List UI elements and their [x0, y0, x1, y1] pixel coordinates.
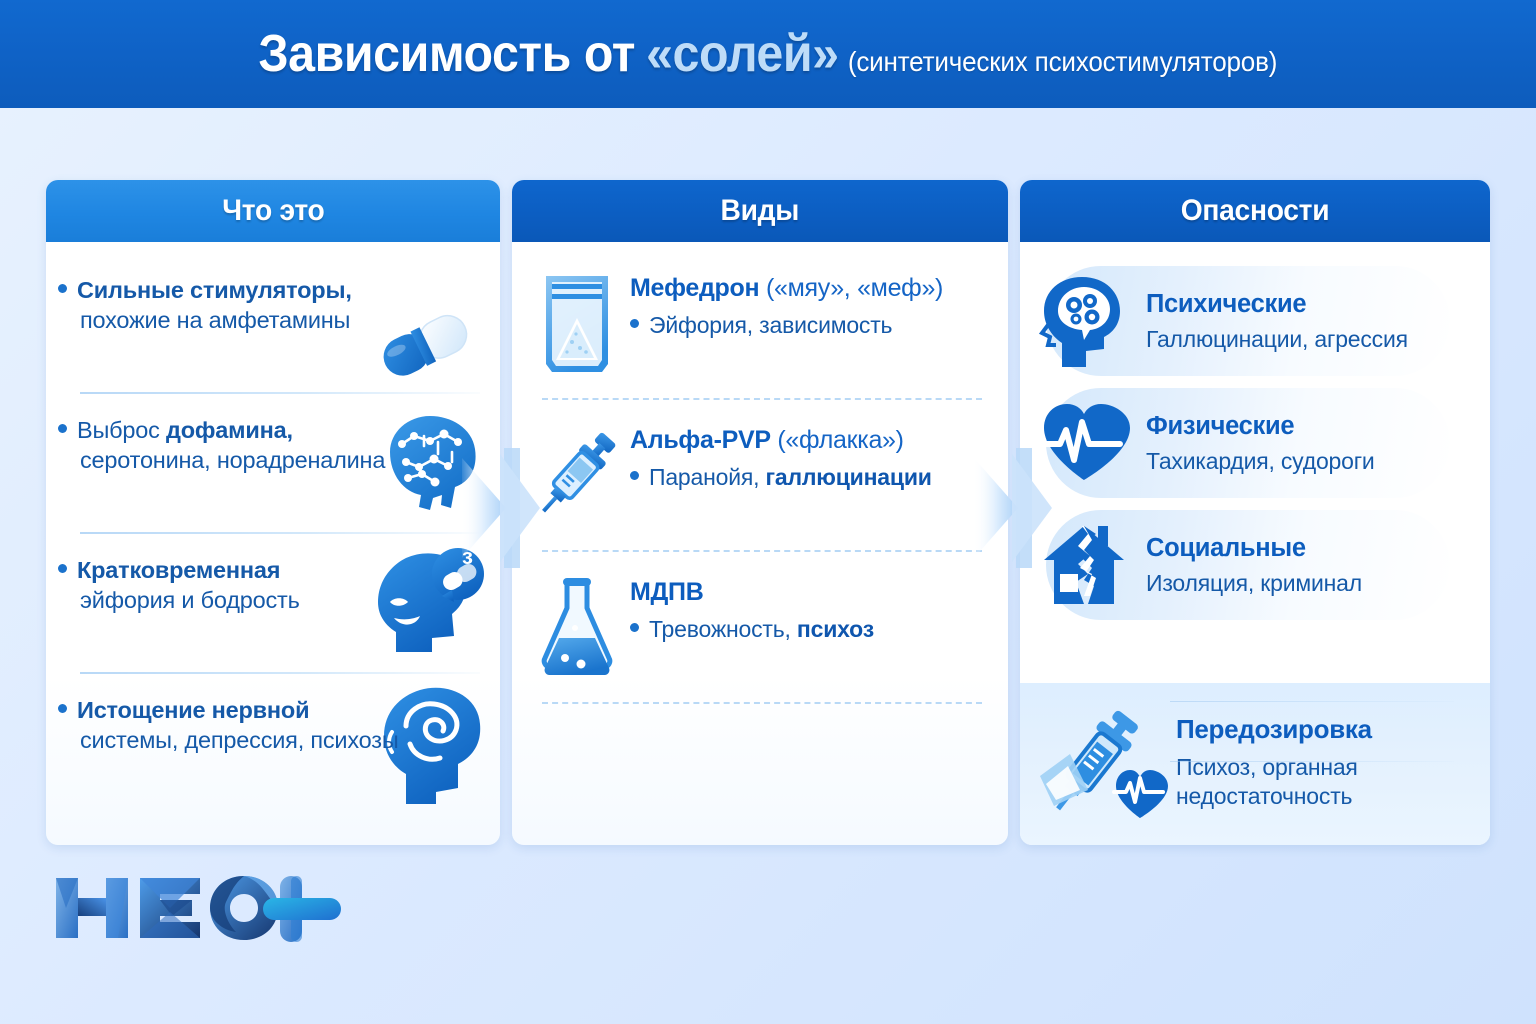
dangers-list: Психические Галлюцинации, агрессия Физич… [1020, 242, 1490, 626]
list-item-text: Истощение нервной системы, депрессия, пс… [80, 688, 482, 756]
divider [1170, 761, 1454, 762]
list-item[interactable]: Альфа-PVP («флакка») Паранойя, галлюцина… [512, 416, 1008, 534]
broken-house-icon [1036, 522, 1132, 608]
type-effect-strong: галлюцинации [765, 464, 931, 490]
overdose-section[interactable]: Передозировка Психоз, органная недостато… [1020, 683, 1490, 845]
type-alias: («флакка») [777, 426, 903, 454]
danger-title: Физические [1146, 412, 1375, 441]
line-text: системы, депрессия, психозы [80, 726, 482, 756]
overdose-title: Передозировка [1176, 714, 1372, 745]
list-item[interactable]: Сильные стимуляторы, похожие на амфетами… [46, 268, 500, 378]
panel-what-title: Что это [222, 194, 324, 228]
panel-types-header: Виды [512, 180, 1008, 242]
type-effect-strong: психоз [797, 616, 874, 642]
type-alias: («мяу», «меф») [766, 274, 943, 302]
line-text: Кратковременная [77, 557, 280, 583]
list-item-text: Альфа-PVP («флакка») Паранойя, галлюцина… [620, 416, 932, 491]
flask-icon [534, 568, 620, 678]
panel-what-is-it: Что это [46, 180, 500, 845]
syringe-heart-icon [1034, 704, 1174, 824]
bullet-icon [630, 319, 639, 328]
list-item-text: МДПВ Тревожность, психоз [620, 568, 874, 643]
type-effect: Эйфория, зависимость [649, 312, 892, 338]
danger-title: Социальные [1146, 534, 1362, 563]
list-item[interactable]: Мефедрон («мяу», «меф») Эйфория, зависим… [512, 264, 1008, 382]
bullet-icon [58, 424, 67, 433]
what-list: Сильные стимуляторы, похожие на амфетами… [46, 242, 500, 798]
overdose-text: Передозировка Психоз, органная недостато… [1174, 714, 1372, 815]
bullet-icon [58, 284, 67, 293]
syringe-icon [534, 416, 620, 526]
list-item[interactable]: Физические Тахикардия, судороги [1020, 382, 1490, 504]
heart-pulse-icon [1036, 400, 1132, 486]
list-item-text: Мефедрон («мяу», «меф») Эйфория, зависим… [620, 264, 943, 339]
list-item-text: Сильные стимуляторы, похожие на амфетами… [80, 268, 482, 336]
type-effect: Тревожность, [649, 616, 797, 642]
list-item[interactable]: з Кратковременная эйфория и бодрость [46, 548, 500, 658]
panel-dangers-title: Опасности [1181, 194, 1330, 228]
logo-letter-e [140, 878, 200, 938]
panel-dangers: Опасности [1020, 180, 1490, 845]
list-item[interactable]: Психические Галлюцинации, агрессия [1020, 260, 1490, 382]
logo-letter-n [56, 878, 128, 938]
divider [80, 672, 480, 674]
divider [80, 532, 480, 534]
title-subtitle: (синтетических психостимуляторов) [848, 46, 1277, 78]
list-item[interactable]: МДПВ Тревожность, психоз [512, 568, 1008, 686]
line-text: Сильные стимуляторы, [77, 277, 352, 303]
list-item[interactable]: Выброс дофамина, серотонина, норадренали… [46, 408, 500, 518]
line-text: эйфория и бодрость [80, 586, 482, 616]
head-brain-gears-icon [1036, 273, 1132, 369]
panel-dangers-header: Опасности [1020, 180, 1490, 242]
page-title: Зависимость от «солей» (синтетических пс… [259, 24, 1278, 84]
bullet-icon [630, 623, 639, 632]
type-name: Мефедрон [630, 274, 759, 302]
danger-sub: Изоляция, криминал [1146, 570, 1362, 597]
line-text: серотонина, норадреналина [80, 446, 482, 476]
list-item-text: Кратковременная эйфория и бодрость [80, 548, 482, 616]
line-text: Выброс [77, 417, 166, 443]
title-main: Зависимость от [259, 24, 636, 84]
powder-bag-icon [534, 264, 620, 374]
line-text: Истощение нервной [77, 697, 309, 723]
line-text-strong: дофамина, [166, 417, 293, 443]
bullet-icon [630, 471, 639, 480]
list-item-text: Социальные Изоляция, криминал [1132, 534, 1362, 597]
logo-plus-icon [263, 876, 341, 942]
overdose-sub-line2: недостаточность [1176, 782, 1372, 811]
type-effect: Паранойя, [649, 464, 765, 490]
type-name: МДПВ [630, 578, 703, 606]
panel-what-header: Что это [46, 180, 500, 242]
types-list: Мефедрон («мяу», «меф») Эйфория, зависим… [512, 242, 1008, 704]
list-item[interactable]: Истощение нервной системы, депрессия, пс… [46, 688, 500, 798]
header-bar: Зависимость от «солей» (синтетических пс… [0, 0, 1536, 108]
divider [542, 398, 982, 400]
list-item-text: Психические Галлюцинации, агрессия [1132, 290, 1408, 353]
panel-what-body: Сильные стимуляторы, похожие на амфетами… [46, 242, 500, 845]
overdose-sub-line1: Психоз, органная [1176, 753, 1372, 782]
panel-types: Виды [512, 180, 1008, 845]
divider [542, 550, 982, 552]
divider [1170, 701, 1454, 702]
list-item[interactable]: Социальные Изоляция, криминал [1020, 504, 1490, 626]
title-quoted: «солей» [646, 24, 838, 84]
panel-dangers-body: Психические Галлюцинации, агрессия Физич… [1020, 242, 1490, 845]
bullet-icon [58, 704, 67, 713]
neo-plus-logo[interactable] [52, 868, 352, 948]
list-item-text: Физические Тахикардия, судороги [1132, 412, 1375, 475]
list-item-text: Выброс дофамина, серотонина, норадренали… [80, 408, 482, 476]
bullet-icon [58, 564, 67, 573]
panel-types-title: Виды [721, 194, 800, 228]
danger-sub: Галлюцинации, агрессия [1146, 326, 1408, 353]
danger-title: Психические [1146, 290, 1408, 319]
danger-sub: Тахикардия, судороги [1146, 448, 1375, 475]
divider [542, 702, 982, 704]
panel-types-body: Мефедрон («мяу», «меф») Эйфория, зависим… [512, 242, 1008, 845]
type-name: Альфа-PVP [630, 426, 771, 454]
divider [80, 392, 480, 394]
line-text: похожие на амфетамины [80, 306, 482, 336]
